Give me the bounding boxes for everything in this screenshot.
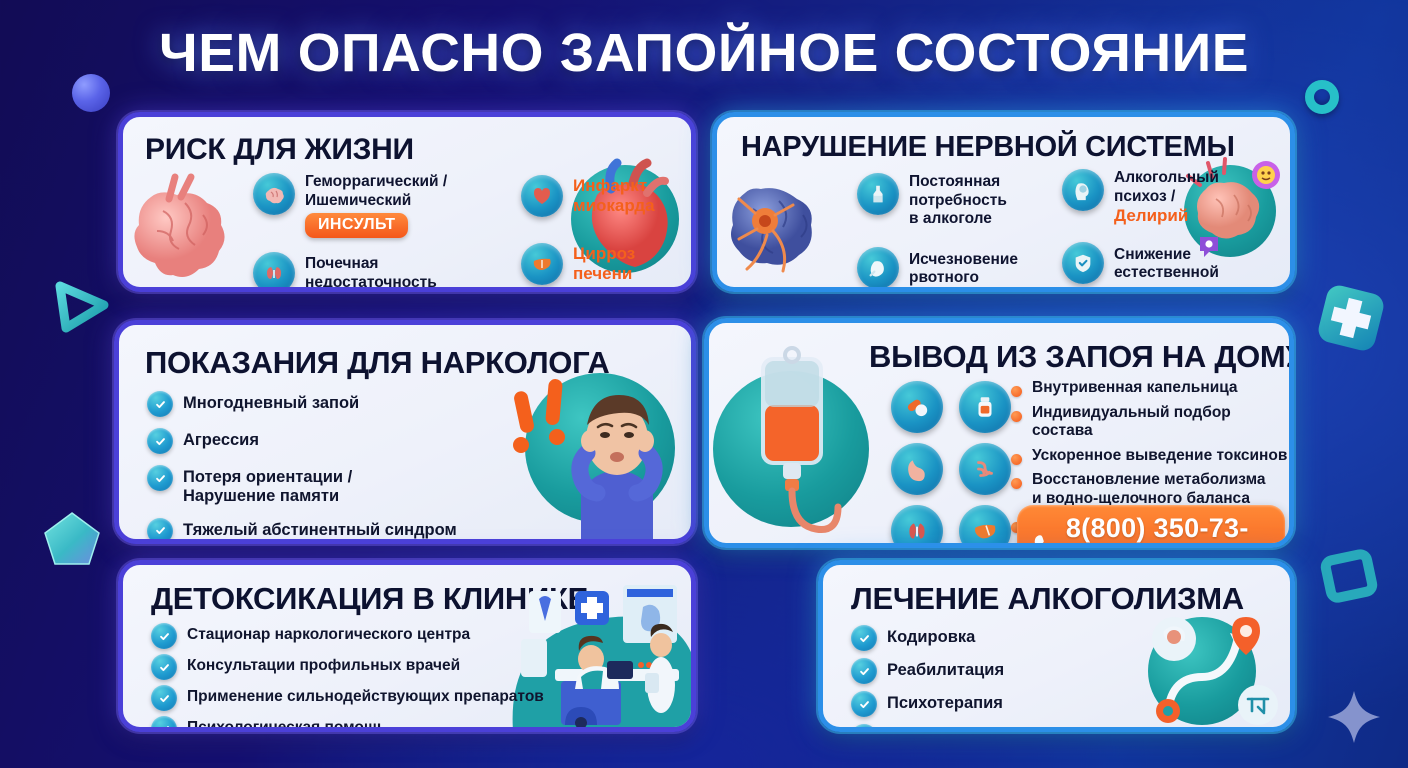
shield-check-icon — [1062, 242, 1104, 284]
delirium-label: Делирий — [1114, 206, 1219, 226]
treatment-item: Реабилитация — [851, 658, 1111, 684]
bullet-dot-icon — [1011, 478, 1022, 489]
treatment-item: Кодировка — [851, 625, 1111, 651]
risk-item-kidney: Почечная недостаточность — [253, 252, 453, 292]
home-item-label: Восстановление метаболизма и водно-щелоч… — [1032, 471, 1265, 508]
home-item-label: Ускоренное выведение токсинов — [1032, 447, 1287, 466]
risk-item-stroke-label: Геморрагический / Ишемический — [305, 173, 447, 210]
card-nervous-title: НАРУШЕНИЕ НЕРВНОЙ СИСТЕМЫ — [741, 131, 1235, 164]
detox-item-label: Психологическая помощь — [187, 719, 386, 732]
teal-cube-decoration — [1318, 545, 1380, 612]
check-icon — [151, 716, 177, 732]
nervous-item-psychosis-label: Алкогольный психоз / — [1114, 169, 1219, 206]
intestine-icon — [959, 443, 1011, 495]
medical-cross-decoration — [1316, 283, 1386, 358]
iv-drip-3d-illustration — [705, 343, 881, 548]
detox-item-label: Применение сильнодействующих препаратов — [187, 688, 544, 707]
treatment-list: КодировкаРеабилитацияПсихотерапияФизиопр… — [851, 625, 1111, 732]
nervous-item-craving: Постоянная потребность в алкоголе — [857, 173, 1057, 229]
treatment-item: Психотерапия — [851, 691, 1111, 717]
brain-icon — [253, 173, 295, 215]
nervous-item-gagreflex: Исчезновение рвотного рефлекса — [857, 247, 1057, 292]
nervous-item-craving-label: Постоянная потребность в алкоголе — [909, 173, 1007, 229]
phone-icon — [1033, 532, 1056, 548]
check-icon — [151, 654, 177, 680]
risk-item-infarct: Инфаркт миокарда — [521, 175, 696, 217]
bullet-dot-icon — [1011, 454, 1022, 465]
nausea-icon — [857, 247, 899, 289]
risk-item-infarct-label: Инфаркт миокарда — [573, 176, 655, 216]
treatment-item-label: Кодировка — [887, 628, 975, 647]
home-icon-grid — [891, 381, 1015, 548]
liver-icon — [521, 243, 563, 285]
teal-torus-decoration — [1305, 80, 1339, 114]
home-item-label: Индивидуальный подбор состава — [1032, 404, 1291, 441]
card-home-withdrawal: ВЫВОД ИЗ ЗАПОЯ НА ДОМУ — [704, 318, 1294, 548]
check-icon — [851, 625, 877, 651]
nervous-item-psychosis: Алкогольный психоз / Делирий — [1062, 169, 1282, 227]
sparkle-star-decoration — [1325, 688, 1383, 751]
check-icon — [151, 623, 177, 649]
treatment-item-label: Психотерапия — [887, 694, 1003, 713]
card-home-title: ВЫВОД ИЗ ЗАПОЯ НА ДОМУ — [869, 339, 1294, 375]
risk-item-cirrhosis-label: Цирроз печени — [573, 244, 635, 284]
check-icon — [851, 724, 877, 732]
indications-item: Потеря ориентации / Нарушение памяти — [147, 465, 477, 507]
stroke-badge: ИНСУЛЬТ — [305, 213, 408, 238]
check-icon — [151, 685, 177, 711]
risk-item-stroke: Геморрагический / Ишемический ИНСУЛЬТ — [253, 173, 453, 238]
nervous-item-immunity: Снижение естественной защиты организма — [1062, 242, 1282, 292]
indications-item: Тяжелый абстинентный синдром — [147, 518, 477, 544]
card-risk-for-life: РИСК ДЛЯ ЖИЗНИ — [118, 112, 696, 292]
check-icon — [147, 428, 173, 454]
home-item: Индивидуальный подбор состава — [1011, 404, 1291, 441]
head-brain-icon — [1062, 169, 1104, 211]
detox-item-label: Консультации профильных врачей — [187, 657, 460, 676]
liver-icon-home — [959, 505, 1011, 548]
teal-pentagon-decoration — [42, 510, 102, 573]
nervous-item-immunity-label: Снижение естественной защиты организма — [1114, 246, 1282, 292]
card-indications: ПОКАЗАНИЯ ДЛЯ НАРКОЛОГА Многодневный зап… — [114, 320, 696, 544]
check-icon — [851, 691, 877, 717]
phone-number: 8(800) 350-73-81 — [1066, 513, 1269, 548]
check-icon — [147, 391, 173, 417]
indications-item-label: Агрессия — [183, 431, 259, 450]
check-icon — [147, 518, 173, 544]
treatment-item-label: Реабилитация — [887, 661, 1004, 680]
bottle-icon — [857, 173, 899, 215]
bullet-dot-icon — [1011, 386, 1022, 397]
nervous-item-gagreflex-label: Исчезновение рвотного рефлекса — [909, 251, 1057, 292]
indications-item: Многодневный запой — [147, 391, 477, 417]
home-item: Внутривенная капельница — [1011, 379, 1291, 398]
card-risk-title: РИСК ДЛЯ ЖИЗНИ — [145, 133, 414, 167]
stressed-man-3d-illustration — [495, 361, 685, 539]
phone-button[interactable]: 8(800) 350-73-81 — [1017, 505, 1285, 548]
card-clinic-detox: ДЕТОКСИКАЦИЯ В КЛИНИКЕ — [118, 560, 696, 732]
neuron-brain-3d-illustration — [717, 163, 857, 291]
check-icon — [851, 658, 877, 684]
check-icon — [147, 465, 173, 491]
detox-item: Консультации профильных врачей — [151, 654, 571, 680]
treatment-item: Физиопроцедуры — [851, 724, 1111, 732]
kidneys-icon — [891, 505, 943, 548]
indications-item-label: Тяжелый абстинентный синдром — [183, 521, 457, 540]
detox-item-label: Стационар наркологического центра — [187, 626, 470, 645]
recovery-path-3d-illustration — [1134, 611, 1282, 729]
risk-item-kidney-label: Почечная недостаточность — [305, 255, 437, 292]
card-alcoholism-treatment: ЛЕЧЕНИЕ АЛКОГОЛИЗМА КодировкаРеабилитаци… — [818, 560, 1295, 732]
pills-icon — [891, 381, 943, 433]
home-item: Восстановление метаболизма и водно-щелоч… — [1011, 471, 1291, 508]
detox-list: Стационар наркологического центраКонсуль… — [151, 623, 571, 732]
stomach-icon — [891, 443, 943, 495]
indications-item-label: Потеря ориентации / Нарушение памяти — [183, 468, 352, 507]
indications-list: Многодневный запойАгрессияПотеря ориента… — [147, 391, 477, 544]
detox-item: Психологическая помощь — [151, 716, 571, 732]
brain-3d-illustration — [129, 169, 249, 287]
home-item-label: Внутривенная капельница — [1032, 379, 1238, 398]
treatment-item-label: Физиопроцедуры — [887, 727, 1033, 732]
detox-item: Применение сильнодействующих препаратов — [151, 685, 571, 711]
indications-item: Агрессия — [147, 428, 477, 454]
heart-icon — [521, 175, 563, 217]
card-nervous-system: НАРУШЕНИЕ НЕРВНОЙ СИСТЕМЫ — [712, 112, 1295, 292]
kidney-icon — [253, 252, 295, 292]
risk-item-cirrhosis: Цирроз печени — [521, 243, 696, 285]
medicine-bottle-icon — [959, 381, 1011, 433]
bullet-dot-icon — [1011, 411, 1022, 422]
home-item: Ускоренное выведение токсинов — [1011, 447, 1291, 466]
detox-item: Стационар наркологического центра — [151, 623, 571, 649]
indications-item-label: Многодневный запой — [183, 394, 359, 413]
page-title: ЧЕМ ОПАСНО ЗАПОЙНОЕ СОСТОЯНИЕ — [0, 22, 1408, 84]
